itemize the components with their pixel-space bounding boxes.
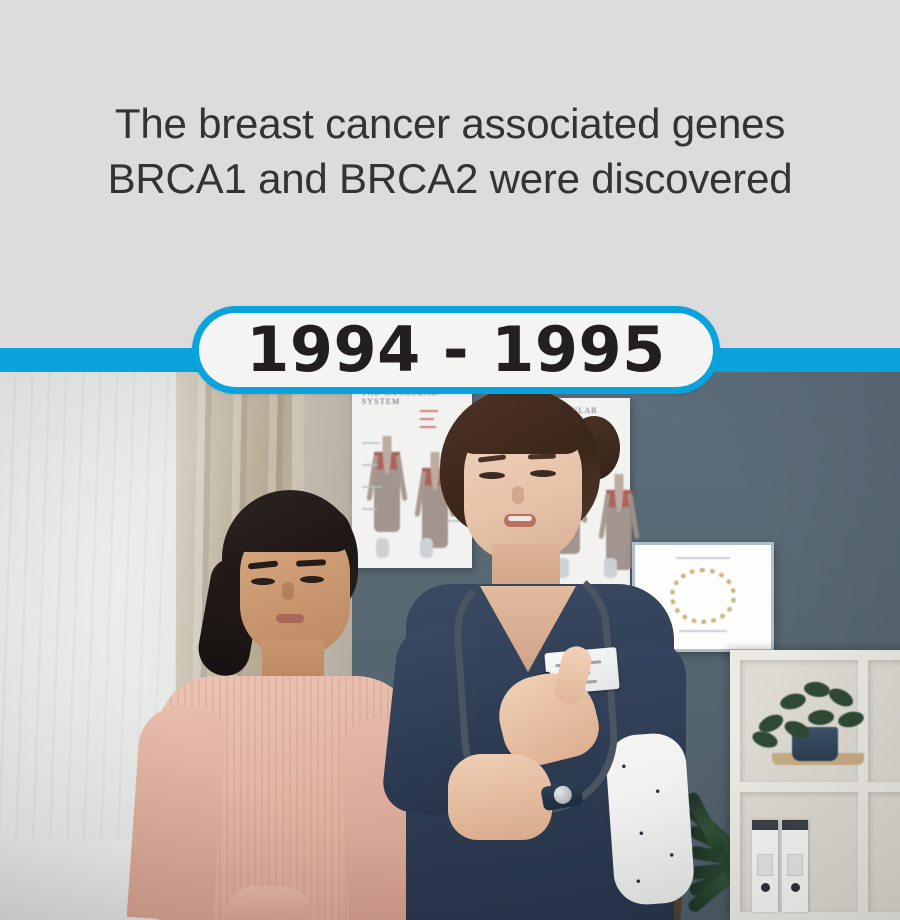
nurse-undershirt-sleeve	[604, 731, 696, 906]
patient-left-arm	[127, 703, 228, 920]
year-badge-label: 1994 - 1995	[246, 319, 666, 381]
patient-hands	[226, 886, 312, 920]
shelf-potted-plant	[750, 670, 870, 765]
patient-nose	[282, 582, 294, 600]
year-badge: 1994 - 1995	[192, 306, 720, 394]
nurse-fringe	[456, 406, 584, 454]
ring-binder	[782, 820, 808, 912]
ring-binder	[752, 820, 778, 912]
page-title: The breast cancer associated genes BRCA1…	[0, 96, 900, 207]
clinic-photo: THE MUSCULAR SYSTEM THE MUSCULAR SYSTEM	[0, 370, 900, 920]
patient-mouth	[276, 614, 304, 623]
nurse-nose	[512, 486, 524, 504]
nurse-supporting-hand	[448, 754, 552, 840]
patient-fringe	[230, 506, 352, 552]
nurse-mouth	[504, 514, 536, 527]
nurse-figure	[372, 388, 702, 920]
infographic-card: The breast cancer associated genes BRCA1…	[0, 0, 900, 920]
